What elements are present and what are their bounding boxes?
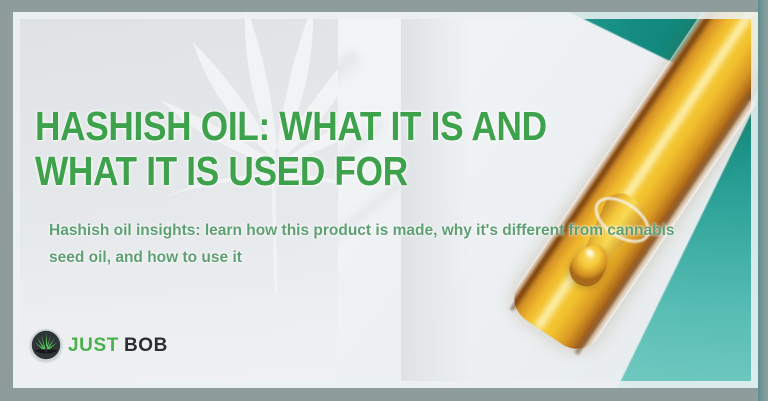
cannabis-leaf-badge-icon	[29, 328, 63, 362]
frame-border-top	[0, 0, 768, 12]
brand-wordmark: JUSTBOB	[68, 336, 168, 355]
brand-logo[interactable]: JUSTBOB	[29, 328, 168, 362]
frame-border-right	[758, 0, 768, 401]
hashish-oil-article-banner: Hashish oil: What it is and what it is u…	[0, 0, 768, 401]
frame-border-left	[0, 0, 13, 401]
banner-canvas: Hashish oil: What it is and what it is u…	[13, 12, 758, 388]
brand-name-primary: JUST	[68, 335, 119, 356]
page-title: Hashish oil: What it is and what it is u…	[35, 104, 628, 194]
brand-name-secondary: BOB	[124, 335, 168, 356]
page-subtitle: Hashish oil insights: learn how this pro…	[49, 217, 709, 271]
frame-border-bottom	[0, 388, 768, 401]
